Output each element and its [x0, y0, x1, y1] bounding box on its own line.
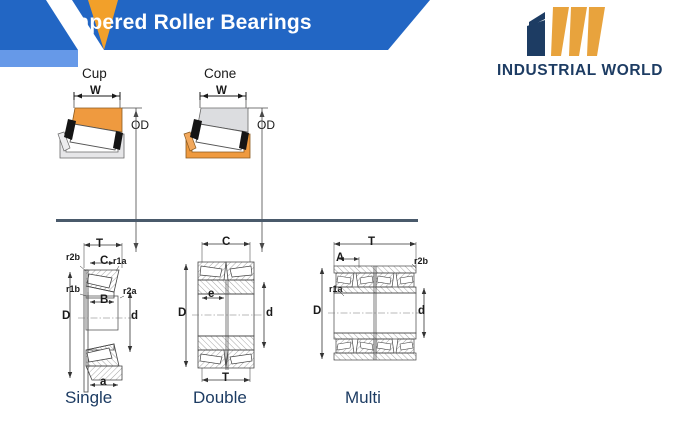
double-drawing — [172, 230, 292, 390]
cone-drawing — [176, 82, 286, 232]
logo-wordmark: INDUSTRIAL WORLD — [497, 62, 697, 80]
cone-caption: Cone — [204, 66, 236, 81]
single-dim-r1b: r1b — [66, 284, 80, 294]
double-dim-d: d — [266, 307, 273, 319]
double-dim-T: T — [222, 372, 229, 384]
iw-monogram-icon — [525, 6, 633, 56]
section-divider — [56, 219, 418, 222]
multi-dim-T: T — [368, 236, 375, 248]
single-dim-C: C — [100, 255, 108, 267]
single-dim-r2b: r2b — [66, 252, 80, 262]
brand-logo: INDUSTRIAL WORLD — [497, 6, 697, 84]
multi-dim-r1a: r1a — [329, 284, 343, 294]
double-dim-e: e — [208, 288, 214, 300]
bearing-types-section: T C B a D d r2b r1a r1b r2a Single — [0, 228, 470, 428]
single-dim-a: a — [100, 376, 106, 388]
multi-dim-D: D — [313, 305, 321, 317]
single-dim-r1a: r1a — [113, 256, 127, 266]
cup-drawing — [50, 82, 160, 232]
single-dim-B: B — [100, 294, 108, 306]
single-dim-d: d — [131, 310, 138, 322]
multi-dim-r2b: r2b — [414, 256, 428, 266]
double-caption: Double — [193, 388, 247, 408]
double-dim-C: C — [222, 236, 230, 248]
cup-cone-section: Cup W OD — [0, 60, 470, 205]
single-dim-D: D — [62, 310, 70, 322]
page-title: Tapered Roller Bearings — [66, 11, 312, 35]
single-dim-r2a: r2a — [123, 286, 137, 296]
cup-caption: Cup — [82, 66, 107, 81]
multi-dim-A: A — [336, 252, 344, 264]
single-caption: Single — [65, 388, 112, 408]
single-dim-T: T — [96, 238, 103, 250]
multi-caption: Multi — [345, 388, 381, 408]
multi-dim-d: d — [418, 305, 425, 317]
double-dim-D: D — [178, 307, 186, 319]
